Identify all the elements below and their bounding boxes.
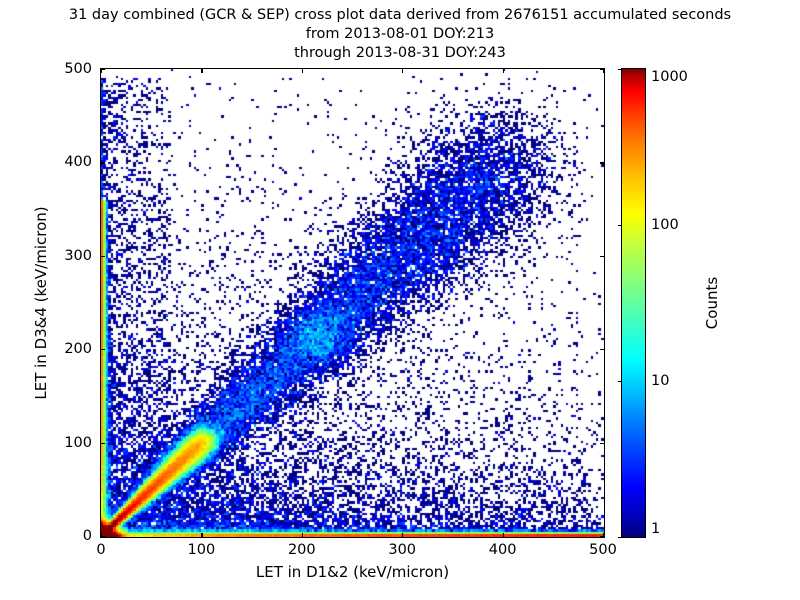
x-tick-300 — [402, 533, 403, 537]
y-tick-label-100: 100 — [64, 435, 92, 451]
colorbar-tick-label-1: 1 — [651, 521, 660, 537]
y-tick-label-200: 200 — [64, 341, 92, 357]
x-axis-label: LET in D1&2 (keV/micron) — [100, 563, 605, 581]
colorbar-gradient — [622, 69, 645, 537]
y-tick-100 — [600, 443, 604, 444]
x-tick-label-500: 500 — [589, 542, 617, 558]
y-tick-500 — [600, 69, 604, 70]
title-line-2: from 2013-08-01 DOY:213 — [0, 25, 800, 44]
y-axis-label-text: LET in D3&4 (keV/micron) — [32, 206, 50, 399]
x-tick-300 — [402, 69, 403, 73]
y-tick-400 — [600, 162, 604, 163]
x-tick-label-400: 400 — [489, 542, 517, 558]
x-tick-200 — [302, 533, 303, 537]
y-tick-500 — [101, 69, 105, 70]
colorbar-tick-label-1000: 1000 — [651, 69, 688, 85]
x-tick-label-200: 200 — [288, 542, 316, 558]
y-tick-100 — [101, 443, 105, 444]
colorbar-tick-100 — [618, 225, 622, 226]
colorbar-tick-10 — [618, 381, 622, 382]
y-tick-0 — [600, 536, 604, 537]
colorbar-tick-label-10: 10 — [651, 373, 669, 389]
x-tick-label-100: 100 — [188, 542, 216, 558]
x-tick-label-0: 0 — [96, 542, 105, 558]
title-line-3: through 2013-08-31 DOY:243 — [0, 44, 800, 63]
y-tick-400 — [101, 162, 105, 163]
y-tick-0 — [101, 536, 105, 537]
x-tick-100 — [201, 69, 202, 73]
colorbar-tick-1 — [618, 537, 622, 538]
x-tick-label-300: 300 — [388, 542, 416, 558]
colorbar-tick-label-100: 100 — [651, 217, 679, 233]
y-tick-200 — [600, 349, 604, 350]
y-tick-label-400: 400 — [64, 154, 92, 170]
colorbar — [621, 68, 646, 538]
plot-axes — [100, 68, 605, 538]
x-tick-100 — [201, 533, 202, 537]
figure-canvas: 31 day combined (GCR & SEP) cross plot d… — [0, 0, 800, 600]
title-line-1: 31 day combined (GCR & SEP) cross plot d… — [0, 6, 800, 25]
x-tick-400 — [503, 533, 504, 537]
y-tick-200 — [101, 349, 105, 350]
plot-title: 31 day combined (GCR & SEP) cross plot d… — [0, 6, 800, 63]
y-tick-300 — [600, 256, 604, 257]
x-tick-200 — [302, 69, 303, 73]
x-tick-400 — [503, 69, 504, 73]
colorbar-label-text: Counts — [703, 277, 721, 329]
y-tick-label-500: 500 — [64, 61, 92, 77]
colorbar-tick-1000 — [618, 69, 622, 70]
density-heatmap — [101, 69, 604, 537]
y-tick-label-300: 300 — [64, 248, 92, 264]
y-tick-300 — [101, 256, 105, 257]
y-tick-label-0: 0 — [83, 528, 92, 544]
